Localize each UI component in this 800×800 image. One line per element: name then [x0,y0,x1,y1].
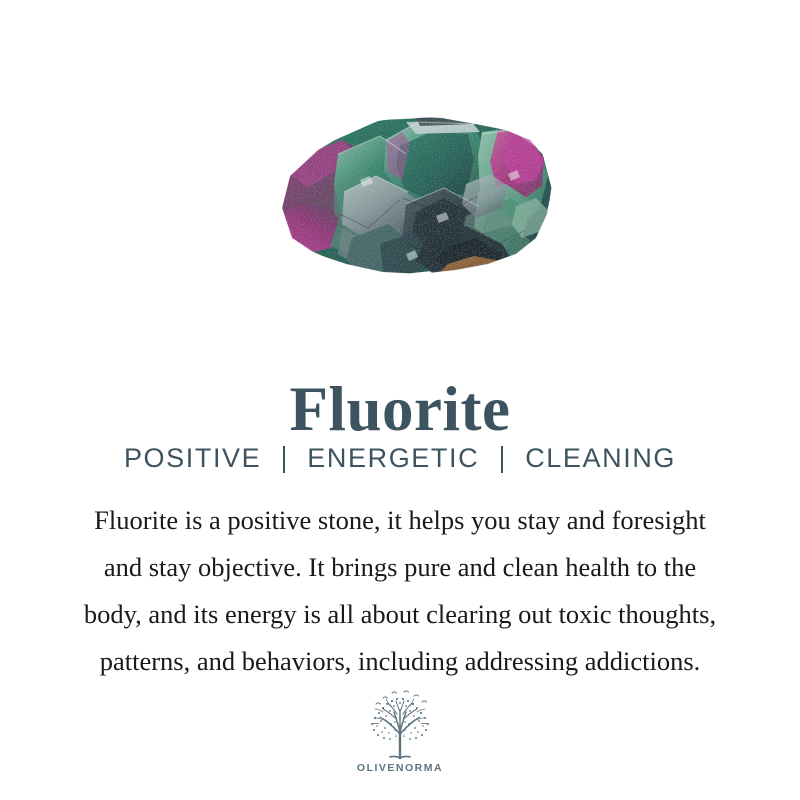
brand-wordmark: OLIVENORMA [357,762,443,774]
tagline-separator-1 [283,446,285,473]
tagline-separator-2 [501,446,503,473]
description-line: and stay objective. It brings pure and c… [0,544,800,591]
page-title: Fluorite [0,375,800,443]
tagline-word-3: CLEANING [525,443,676,474]
description-line: patterns, and behaviors, including addre… [0,638,800,685]
tagline-word-2: ENERGETIC [307,443,479,474]
description-line: body, and its energy is all about cleari… [0,591,800,638]
specimen-image-container [0,88,800,308]
tagline: POSITIVE ENERGETIC CLEANING [0,443,800,474]
brand-logo: OLIVENORMA [0,688,800,774]
product-info-card: Fluorite POSITIVE ENERGETIC CLEANING Flu… [0,0,800,800]
description-paragraph: Fluorite is a positive stone, it helps y… [0,497,800,685]
fluorite-crystal-cluster-image [230,88,570,300]
olivenorma-tree-logo-icon [359,688,441,760]
tagline-word-1: POSITIVE [124,443,261,474]
description-line: Fluorite is a positive stone, it helps y… [0,497,800,544]
